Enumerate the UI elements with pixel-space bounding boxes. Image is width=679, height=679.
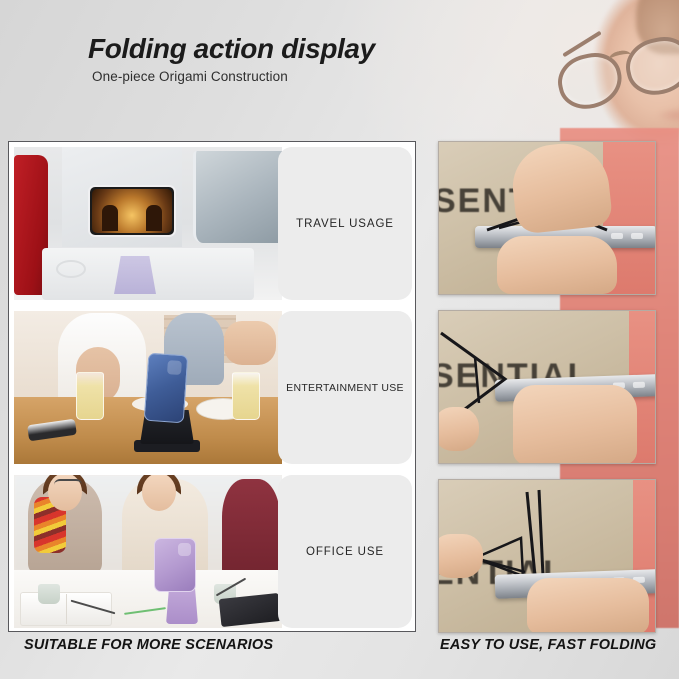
scenario-row: TRAVEL USAGE (14, 147, 412, 300)
phone-camera-module (178, 543, 191, 556)
glasses-lens-right (621, 31, 679, 100)
cafe-drink-glass (76, 372, 104, 420)
screen-figure (102, 205, 118, 231)
scenarios-panel: TRAVEL USAGE (8, 141, 416, 632)
tray-cup-ring (56, 260, 86, 278)
scenario-label-office: OFFICE USE (278, 475, 412, 628)
folding-step-photo-1: SENTIAL (438, 141, 656, 295)
scenario-label-text: OFFICE USE (306, 546, 384, 558)
office-glasses-icon (54, 479, 82, 491)
scenario-photo-travel (14, 147, 282, 300)
hand-lower (497, 236, 617, 294)
scenario-label-text: TRAVEL USAGE (296, 218, 394, 230)
train-window (193, 151, 282, 243)
scenario-label-travel: TRAVEL USAGE (278, 147, 412, 300)
hand-left (438, 534, 483, 578)
folding-step-photo-2: SENTIAL (438, 310, 656, 464)
page-subtitle: One-piece Origami Construction (92, 69, 508, 84)
folding-step-photo-3: ENTIAL (438, 479, 656, 633)
caption-left: SUITABLE FOR MORE SCENARIOS (24, 637, 273, 653)
cafe-drink-glass (232, 372, 260, 420)
poster-root: Folding action display One-piece Origami… (0, 0, 679, 679)
phone-travel (88, 185, 176, 237)
eyeglasses-icon (552, 14, 679, 132)
hand-lower (513, 385, 637, 464)
screen-figure (146, 205, 162, 231)
scenario-row: ENTERTAINMENT USE (14, 311, 412, 464)
office-cup (38, 584, 60, 604)
scenario-row: OFFICE USE (14, 475, 412, 628)
scenario-label-text: ENTERTAINMENT USE (286, 382, 404, 394)
phone-cafe (144, 353, 189, 424)
cafe-hand-with-cup (224, 321, 276, 365)
hand-left (438, 407, 479, 451)
scenario-photo-entertainment (14, 311, 282, 464)
phone-screen-travel (92, 189, 172, 233)
phone-stand-travel (114, 256, 156, 294)
heading-block: Folding action display One-piece Origami… (88, 33, 508, 84)
scenario-label-entertainment: ENTERTAINMENT USE (278, 311, 412, 464)
phone-office (154, 538, 196, 592)
scenario-photo-office (14, 475, 282, 628)
caption-right: EASY TO USE, FAST FOLDING (440, 637, 656, 653)
phone-camera-module (167, 360, 182, 375)
page-title: Folding action display (88, 33, 508, 65)
hand-lower (527, 578, 649, 633)
office-person-right (222, 479, 280, 579)
